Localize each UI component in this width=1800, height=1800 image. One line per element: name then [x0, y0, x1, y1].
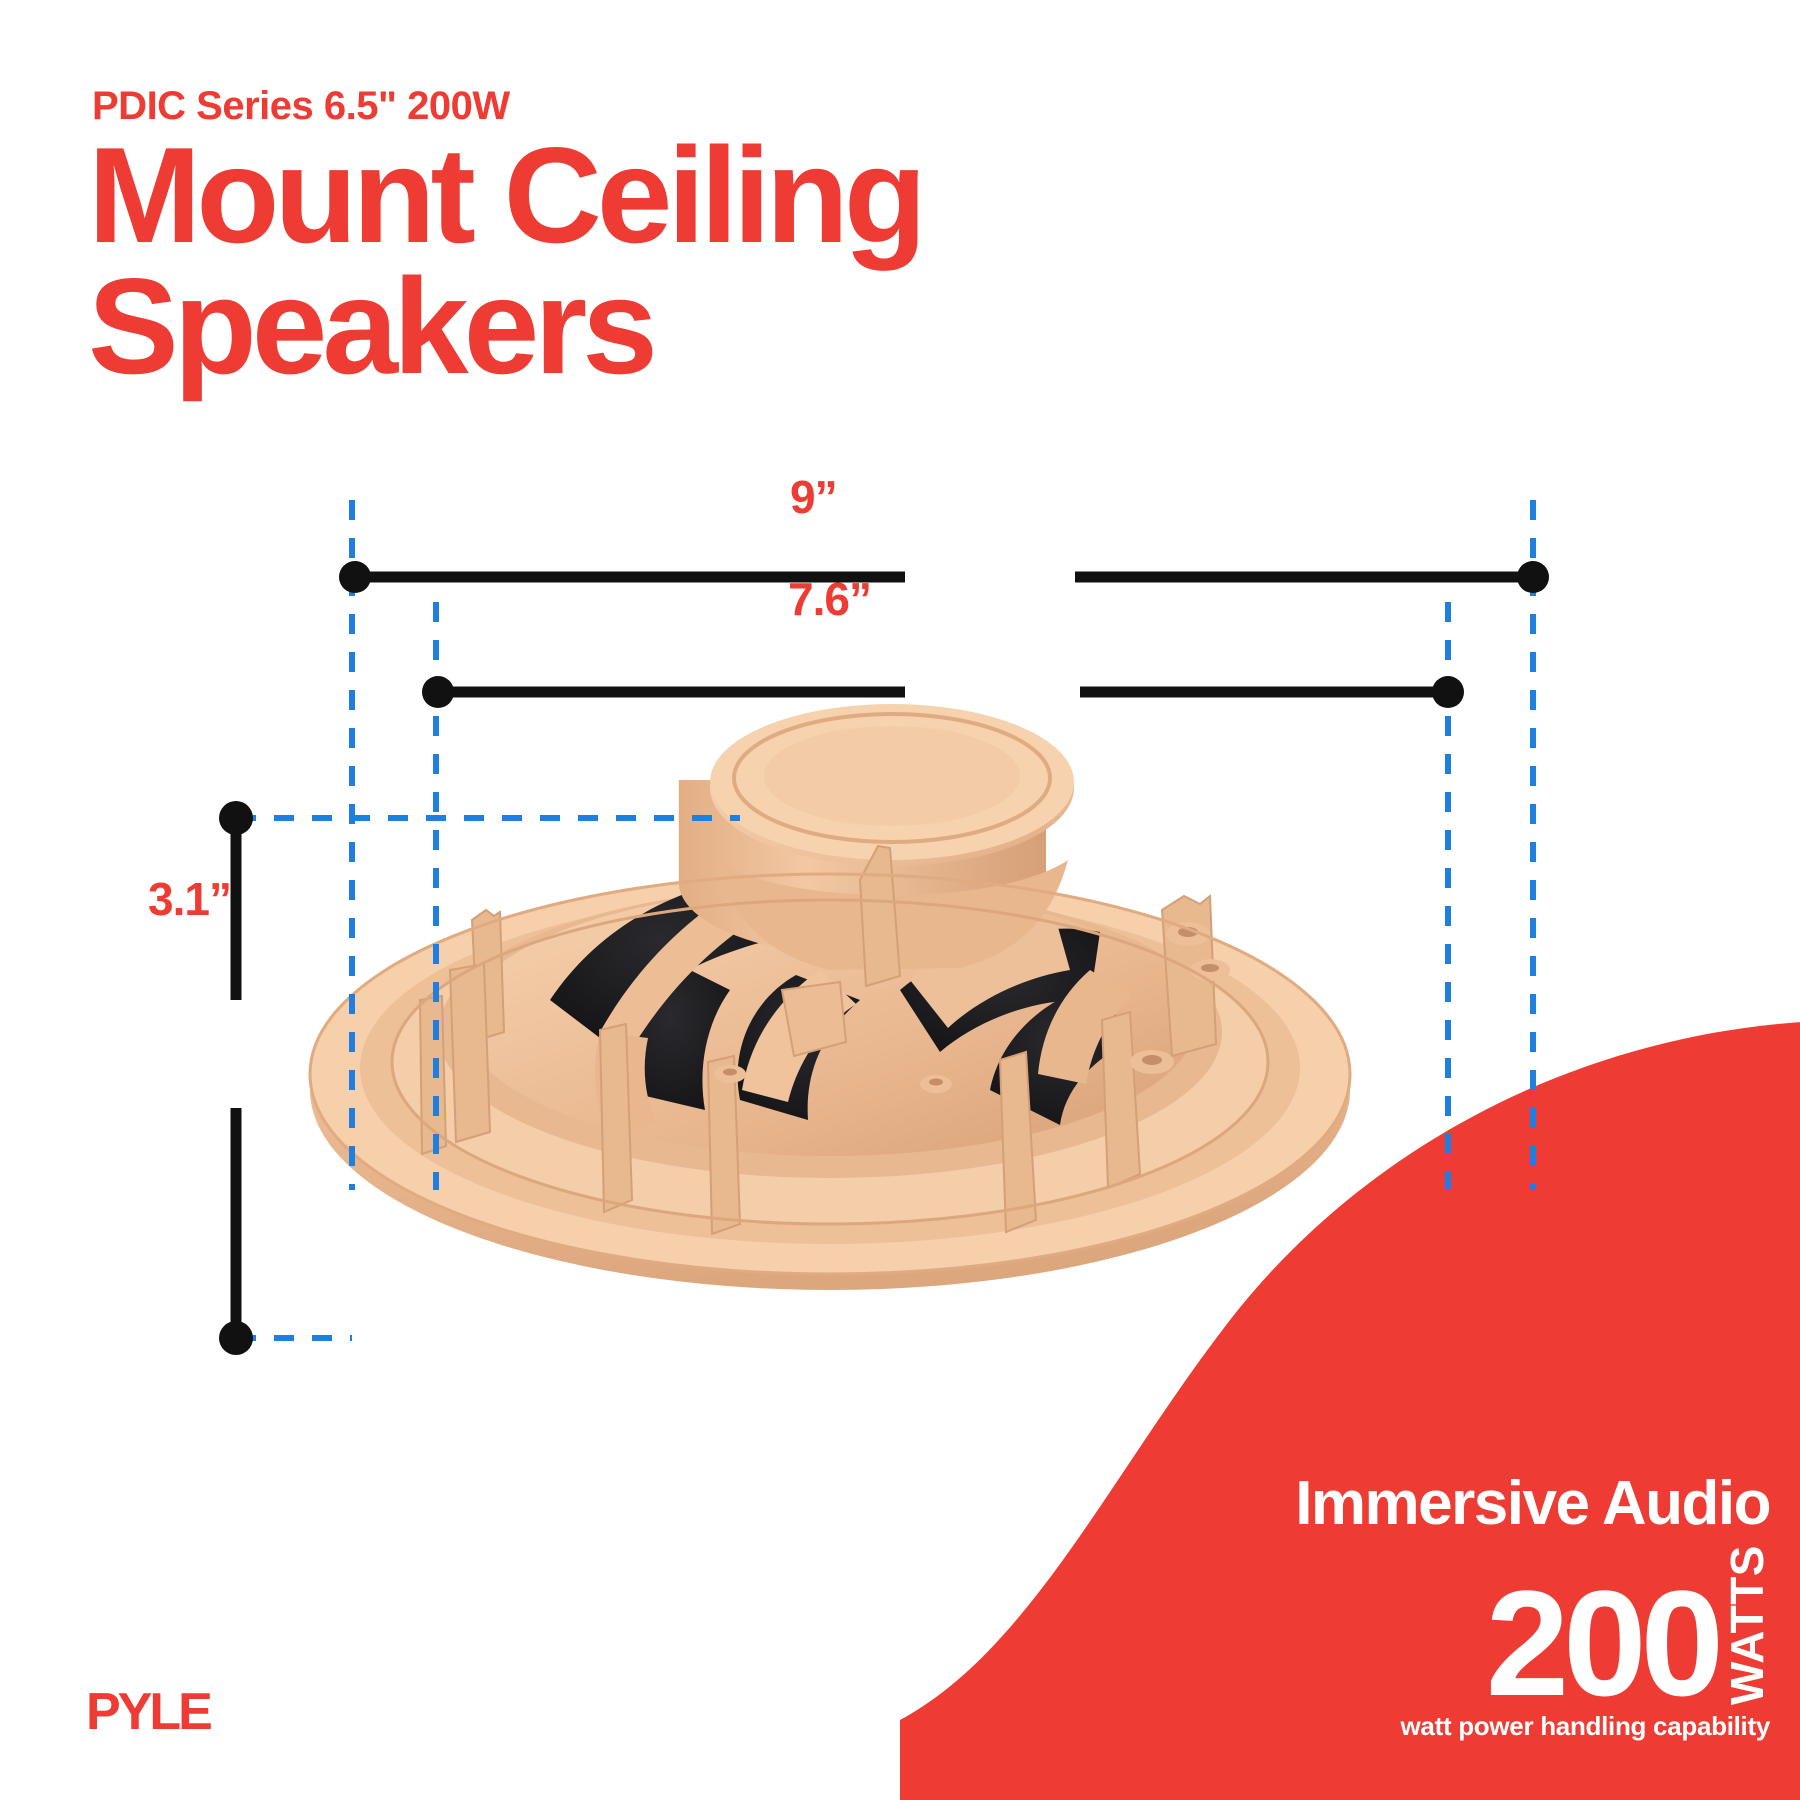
badge-title: Immersive Audio	[1070, 1473, 1770, 1535]
badge-number-row: 200 WATTS	[1070, 1539, 1770, 1705]
pyle-logo: PYLE	[86, 1682, 210, 1742]
dimension-label-overall-width: 9”	[790, 470, 837, 524]
dimension-label-cutout-width: 7.6”	[788, 572, 871, 626]
badge-wattage-number: 200	[1486, 1582, 1718, 1705]
dimension-line-overall-width	[339, 561, 1549, 593]
badge-wattage-unit: WATTS	[1724, 1539, 1770, 1705]
power-badge: Immersive Audio 200 WATTS watt power han…	[1070, 1473, 1770, 1742]
in-ceiling-speaker-illustration	[300, 670, 1360, 1310]
infographic-canvas: PDIC Series 6.5" 200W Mount Ceiling Spea…	[0, 0, 1800, 1800]
page-title-line-1: Mount Ceiling	[88, 119, 922, 271]
page-title-line-2: Speakers	[88, 261, 922, 392]
dimension-label-depth: 3.1”	[148, 872, 231, 926]
page-title: Mount Ceiling Speakers	[88, 130, 922, 391]
badge-subtitle: watt power handling capability	[1070, 1711, 1770, 1742]
product-image	[300, 670, 1360, 1310]
